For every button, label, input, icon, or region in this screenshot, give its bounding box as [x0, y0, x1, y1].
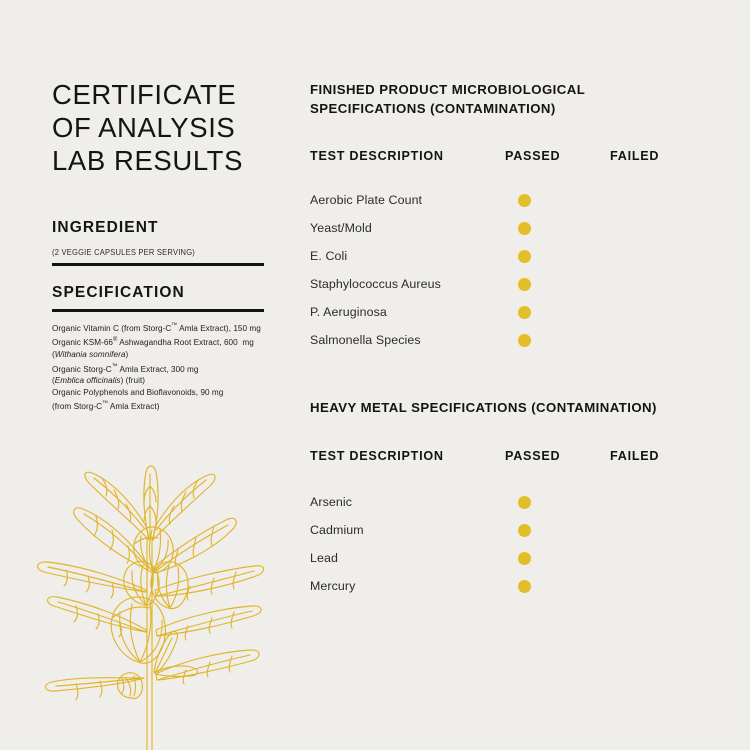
passed-cell [505, 524, 610, 537]
test-description: Aerobic Plate Count [310, 193, 505, 207]
heavy-metal-title-line-1: HEAVY METAL SPECIFICATIONS (CONTAMINATIO… [310, 398, 720, 417]
microbiological-panel: FINISHED PRODUCT MICROBIOLOGICAL SPECIFI… [310, 80, 720, 354]
test-description: Salmonella Species [310, 333, 505, 347]
column-header-test-description: TEST DESCRIPTION [310, 449, 505, 463]
table-row: Yeast/Mold [310, 214, 720, 242]
specification-divider [52, 309, 264, 312]
heavy-metal-panel-title: HEAVY METAL SPECIFICATIONS (CONTAMINATIO… [310, 398, 720, 417]
table-row: Staphylococcus Aureus [310, 270, 720, 298]
microbiological-title-line-2: SPECIFICATIONS (CONTAMINATION) [310, 99, 720, 118]
microbiological-table: TEST DESCRIPTION PASSED FAILED Aerobic P… [310, 144, 720, 354]
table-header-row: TEST DESCRIPTION PASSED FAILED [310, 444, 720, 468]
passed-cell [505, 194, 610, 207]
table-row: Arsenic [310, 488, 720, 516]
table-row: E. Coli [310, 242, 720, 270]
table-row: Aerobic Plate Count [310, 186, 720, 214]
certificate-of-analysis-page: CERTIFICATE OF ANALYSIS LAB RESULTS INGR… [0, 0, 750, 750]
table-header-row: TEST DESCRIPTION PASSED FAILED [310, 144, 720, 168]
passed-dot-icon [518, 250, 531, 263]
passed-cell [505, 496, 610, 509]
table-row: Mercury [310, 572, 720, 600]
table-row: Salmonella Species [310, 326, 720, 354]
column-header-passed: PASSED [505, 149, 610, 163]
passed-dot-icon [518, 552, 531, 565]
table-row: Cadmium [310, 516, 720, 544]
microbiological-table-header: TEST DESCRIPTION PASSED FAILED [310, 144, 720, 168]
specification-section: SPECIFICATION Organic Vitamin C (from St… [52, 284, 284, 413]
microbiological-panel-title: FINISHED PRODUCT MICROBIOLOGICAL SPECIFI… [310, 80, 720, 118]
passed-cell [505, 306, 610, 319]
test-description: Yeast/Mold [310, 221, 505, 235]
test-description: Cadmium [310, 523, 505, 537]
specification-line: (Emblica officinalis) (fruit) [52, 375, 272, 387]
table-row: P. Aeruginosa [310, 298, 720, 326]
passed-cell [505, 580, 610, 593]
passed-dot-icon [518, 222, 531, 235]
passed-cell [505, 334, 610, 347]
passed-dot-icon [518, 580, 531, 593]
specification-line: Organic Storg-C™ Amla Extract, 300 mg [52, 361, 272, 375]
page-title-line-2: OF ANALYSIS [52, 111, 284, 144]
passed-dot-icon [518, 278, 531, 291]
right-column: FINISHED PRODUCT MICROBIOLOGICAL SPECIFI… [310, 80, 720, 600]
ingredient-divider [52, 263, 264, 266]
test-description: Mercury [310, 579, 505, 593]
test-description: E. Coli [310, 249, 505, 263]
page-title-line-3: LAB RESULTS [52, 144, 284, 177]
heavy-metal-panel: HEAVY METAL SPECIFICATIONS (CONTAMINATIO… [310, 398, 720, 600]
passed-dot-icon [518, 334, 531, 347]
passed-dot-icon [518, 194, 531, 207]
specification-line: (from Storg-C™ Amla Extract) [52, 398, 272, 412]
specification-line: (Withania somnifera) [52, 349, 272, 361]
column-header-passed: PASSED [505, 449, 610, 463]
passed-cell [505, 278, 610, 291]
test-description: P. Aeruginosa [310, 305, 505, 319]
specification-list: Organic Vitamin C (from Storg-C™ Amla Ex… [52, 320, 284, 413]
microbiological-title-line-1: FINISHED PRODUCT MICROBIOLOGICAL [310, 80, 720, 99]
heavy-metal-table: TEST DESCRIPTION PASSED FAILED Arsenic C… [310, 444, 720, 600]
specification-line: Organic KSM-66® Ashwagandha Root Extract… [52, 334, 272, 348]
serving-size-note: (2 VEGGIE CAPSULES PER SERVING) [52, 248, 265, 257]
heavy-metal-table-header: TEST DESCRIPTION PASSED FAILED [310, 444, 720, 468]
page-title: CERTIFICATE OF ANALYSIS LAB RESULTS [52, 78, 284, 177]
passed-cell [505, 552, 610, 565]
specification-heading: SPECIFICATION [52, 284, 284, 302]
table-row: Lead [310, 544, 720, 572]
test-description: Staphylococcus Aureus [310, 277, 505, 291]
heavy-metal-table-body: Arsenic Cadmium Lead [310, 488, 720, 600]
test-description: Arsenic [310, 495, 505, 509]
page-title-line-1: CERTIFICATE [52, 78, 284, 111]
left-column: CERTIFICATE OF ANALYSIS LAB RESULTS INGR… [52, 78, 284, 413]
passed-dot-icon [518, 306, 531, 319]
passed-dot-icon [518, 496, 531, 509]
column-header-failed: FAILED [610, 149, 710, 163]
microbiological-table-body: Aerobic Plate Count Yeast/Mold E. Coli [310, 186, 720, 354]
ingredient-section: INGREDIENT (2 VEGGIE CAPSULES PER SERVIN… [52, 219, 284, 266]
specification-line: Organic Vitamin C (from Storg-C™ Amla Ex… [52, 320, 272, 334]
column-header-failed: FAILED [610, 449, 710, 463]
passed-cell [505, 222, 610, 235]
specification-line: Organic Polyphenols and Bioflavonoids, 9… [52, 387, 272, 399]
passed-dot-icon [518, 524, 531, 537]
test-description: Lead [310, 551, 505, 565]
column-header-test-description: TEST DESCRIPTION [310, 149, 505, 163]
ingredient-heading: INGREDIENT [52, 219, 284, 237]
passed-cell [505, 250, 610, 263]
ashwagandha-plant-icon [22, 420, 282, 750]
